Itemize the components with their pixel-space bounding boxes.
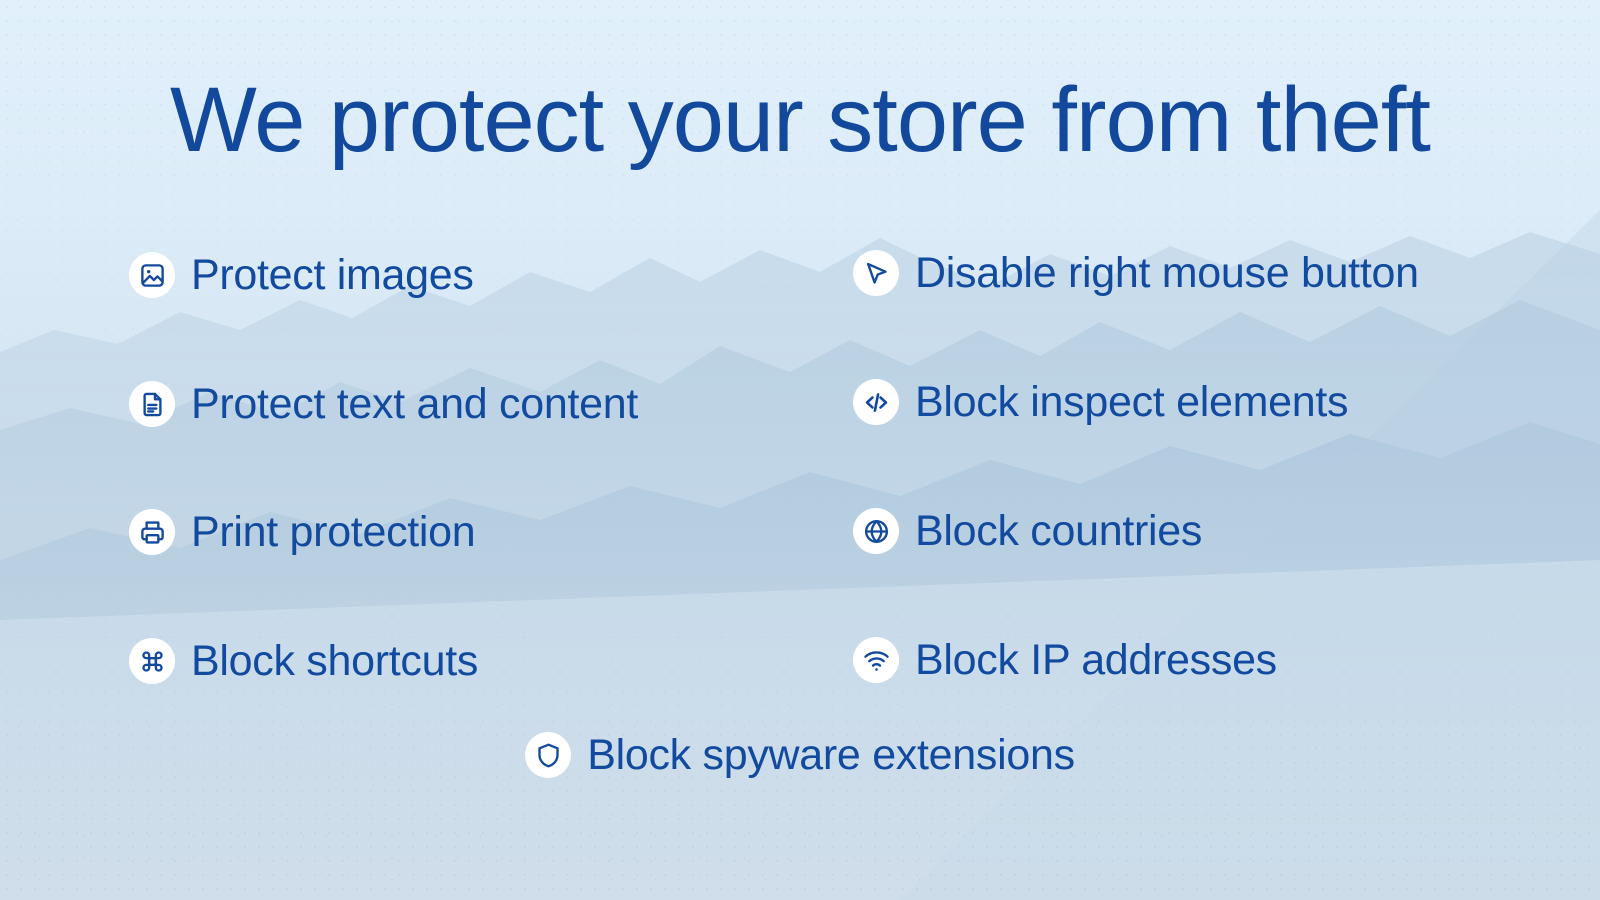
document-icon <box>129 381 175 427</box>
banner-content: We protect your store from theft Protect… <box>0 0 1600 900</box>
promo-banner: We protect your store from theft Protect… <box>0 0 1600 900</box>
feature-label: Block shortcuts <box>191 640 478 683</box>
feature-item-block-inspect-elements: Block inspect elements <box>853 379 1348 425</box>
feature-label: Protect images <box>191 254 474 297</box>
feature-label: Print protection <box>191 511 475 554</box>
feature-item-print-protection: Print protection <box>129 509 475 555</box>
feature-item-protect-text-and-content: Protect text and content <box>129 381 638 427</box>
feature-item-block-countries: Block countries <box>853 508 1202 554</box>
feature-label: Block inspect elements <box>915 381 1348 424</box>
feature-label: Block countries <box>915 510 1202 553</box>
image-icon <box>129 252 175 298</box>
page-title: We protect your store from theft <box>0 72 1600 169</box>
wifi-icon <box>853 637 899 683</box>
feature-item-disable-right-mouse-button: Disable right mouse button <box>853 250 1419 296</box>
feature-label: Block spyware extensions <box>587 734 1075 777</box>
feature-item-protect-images: Protect images <box>129 252 474 298</box>
feature-label: Block IP addresses <box>915 639 1277 682</box>
command-icon <box>129 638 175 684</box>
code-icon <box>853 379 899 425</box>
globe-icon <box>853 508 899 554</box>
shield-icon <box>525 732 571 778</box>
feature-label: Disable right mouse button <box>915 252 1419 295</box>
feature-item-block-spyware-extensions: Block spyware extensions <box>0 732 1600 778</box>
printer-icon <box>129 509 175 555</box>
feature-item-block-shortcuts: Block shortcuts <box>129 638 478 684</box>
feature-item-block-ip-addresses: Block IP addresses <box>853 637 1277 683</box>
cursor-icon <box>853 250 899 296</box>
feature-label: Protect text and content <box>191 383 638 426</box>
